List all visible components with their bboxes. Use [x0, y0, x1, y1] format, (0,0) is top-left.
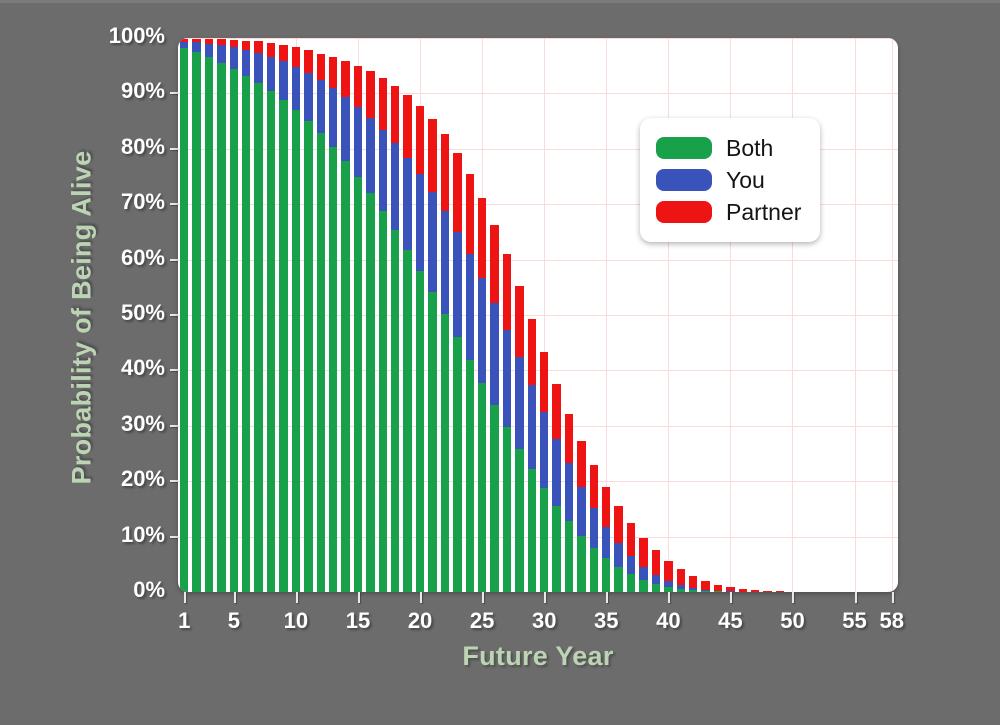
legend-swatch-you [656, 169, 712, 191]
x-tick-mark [234, 592, 236, 603]
chart-legend: BothYouPartner [640, 118, 820, 242]
x-tick-mark [420, 592, 422, 603]
legend-label: Partner [726, 199, 801, 226]
legend-label: Both [726, 135, 773, 162]
x-axis-title: Future Year [178, 641, 898, 672]
legend-swatch-both [656, 137, 712, 159]
chart-figure: Probability of Being Alive 0%10%20%30%40… [0, 0, 1000, 725]
x-tick-label: 58 [852, 608, 932, 634]
x-axis-ticks: 151015202530354045505558 [0, 0, 1000, 725]
x-tick-mark [544, 592, 546, 603]
legend-item-you[interactable]: You [640, 164, 820, 196]
x-tick-mark [358, 592, 360, 603]
legend-label: You [726, 167, 765, 194]
x-tick-mark [668, 592, 670, 603]
x-tick-mark [892, 592, 894, 603]
x-tick-mark [296, 592, 298, 603]
x-tick-mark [730, 592, 732, 603]
x-tick-mark [606, 592, 608, 603]
x-tick-mark [792, 592, 794, 603]
x-tick-mark [855, 592, 857, 603]
legend-swatch-partner [656, 201, 712, 223]
x-tick-mark [184, 592, 186, 603]
legend-item-partner[interactable]: Partner [640, 196, 820, 228]
x-tick-mark [482, 592, 484, 603]
legend-item-both[interactable]: Both [640, 132, 820, 164]
